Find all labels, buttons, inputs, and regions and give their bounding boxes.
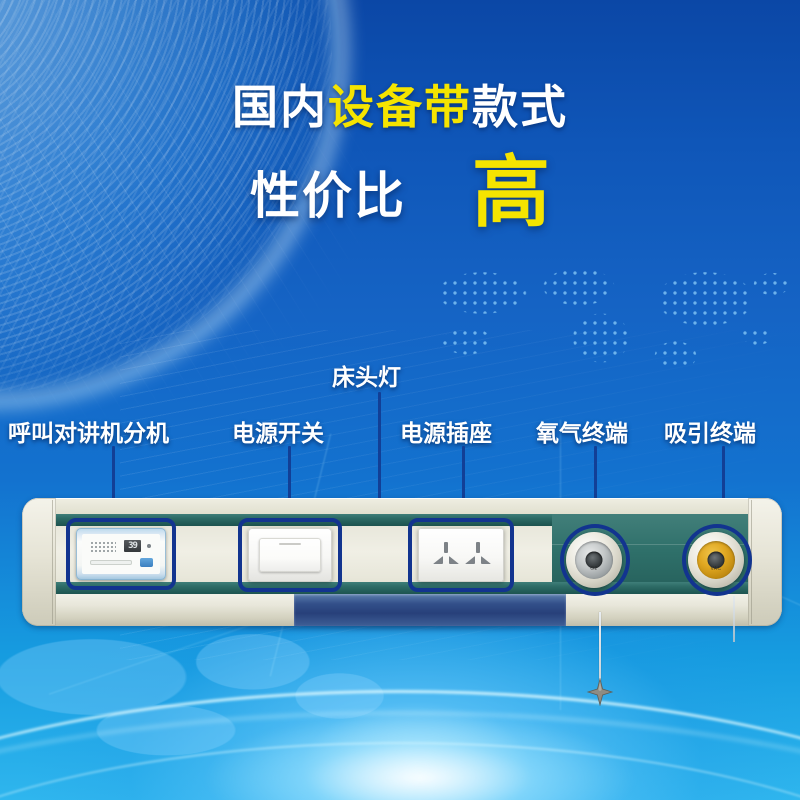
highlight-box-outlet bbox=[408, 518, 514, 592]
product-banner: 国内设备带款式 性价比 高 呼叫对讲机分机 电源开关 床头灯 电源插座 氧气终端… bbox=[0, 0, 800, 800]
bed-lamp-light-strip[interactable] bbox=[294, 594, 566, 626]
dotted-world-map bbox=[430, 248, 800, 398]
highlight-circle-oxygen bbox=[560, 524, 630, 596]
highlight-box-switch bbox=[238, 518, 342, 592]
headline-part-2: 设备带 bbox=[328, 81, 472, 133]
headline-block: 国内设备带款式 性价比 高 bbox=[0, 84, 800, 228]
headline-line-2: 性价比 高 bbox=[0, 156, 800, 228]
pull-cord-secondary[interactable] bbox=[733, 596, 735, 642]
continent-silhouette bbox=[0, 620, 600, 800]
horizon-arc bbox=[0, 742, 800, 800]
horizon-arc bbox=[0, 690, 800, 800]
pull-cord-main[interactable] bbox=[599, 612, 601, 684]
callout-label-switch: 电源开关 bbox=[232, 414, 324, 448]
headline-line-1: 国内设备带款式 bbox=[0, 84, 800, 130]
callout-label-intercom: 呼叫对讲机分机 bbox=[8, 414, 169, 448]
horizon-glow bbox=[120, 664, 720, 800]
callout-label-bed-lamp: 床头灯 bbox=[332, 358, 401, 392]
headline-part-3: 款式 bbox=[472, 81, 568, 133]
highlight-circle-suction bbox=[682, 524, 752, 596]
headline-emphasis-char: 高 bbox=[472, 157, 550, 227]
headline-value-phrase: 性价比 bbox=[250, 156, 406, 228]
headline-part-1: 国内 bbox=[232, 81, 328, 133]
panel-end-cap-right bbox=[748, 498, 782, 626]
horizon-arc bbox=[0, 712, 800, 800]
panel-end-cap-left bbox=[22, 498, 56, 626]
callout-label-suction: 吸引终端 bbox=[664, 414, 756, 448]
highlight-box-intercom bbox=[66, 518, 176, 590]
pull-cord-weight-icon[interactable] bbox=[586, 678, 614, 706]
callout-label-outlet: 电源插座 bbox=[400, 414, 492, 448]
callout-label-oxygen: 氧气终端 bbox=[536, 414, 628, 448]
